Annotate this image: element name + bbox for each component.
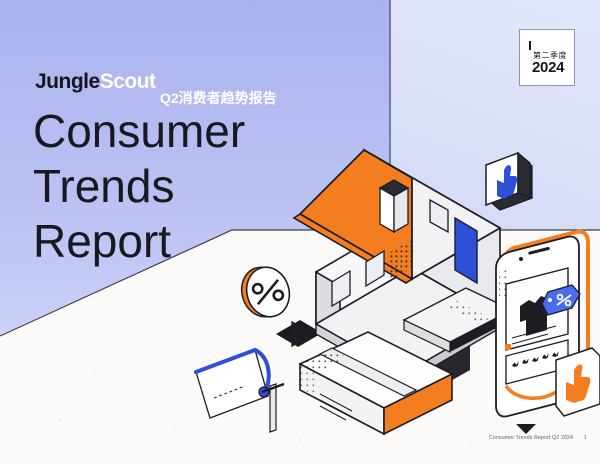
thumbs-up-orange [556,348,600,416]
footer-page-number: 1 [584,435,587,441]
page-title-line-1: Consumer [33,104,245,159]
brand-logo: JungleScout [35,70,156,94]
page-footer: Consumer Trends Report Q2 2024 1 [489,435,587,441]
footer-text: Consumer Trends Report Q2 2024 [489,435,573,441]
page-title: Consumer Trends Report [33,104,245,269]
thumbs-up-card [486,153,532,210]
brand-logo-jungle: Jungle [35,70,100,93]
badge-year-label: 2024 [532,59,564,76]
cover-page: JungleScout Q2消费者趋势报告 Consumer Trends Re… [0,0,600,464]
percent-coin [236,262,295,322]
quarter-badge: 第二季度 2024 [519,29,575,86]
page-title-line-3: Report [33,214,245,269]
page-title-line-2: Trends [33,159,245,214]
brand-logo-scout: Scout [100,70,156,93]
badge-tick-mark [529,41,531,50]
sale-sign [196,350,284,432]
